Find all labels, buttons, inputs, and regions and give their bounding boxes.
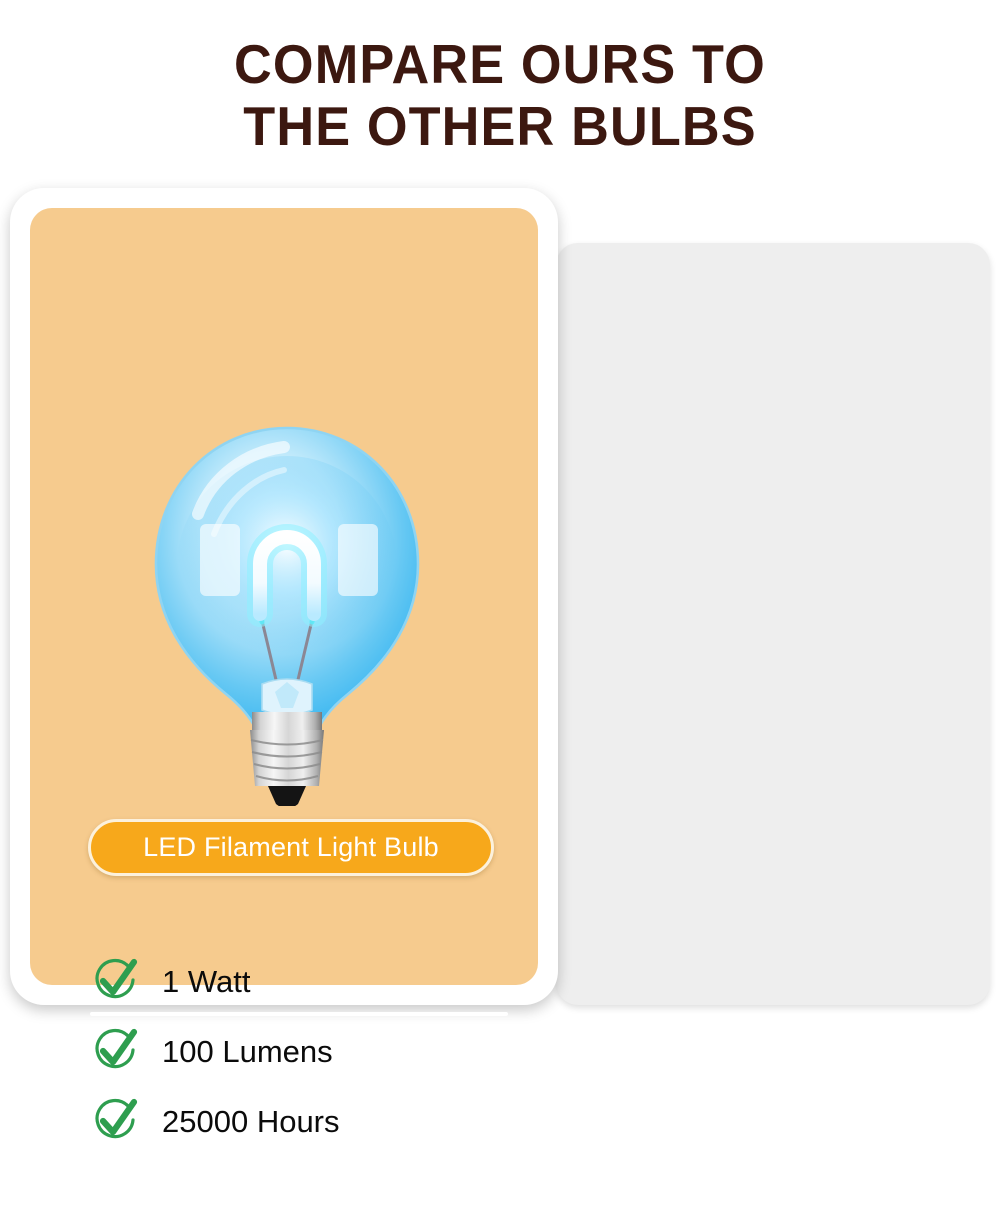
comparison-card-incandescent: Trandition incandescent bulb 10 Watts 20… [556, 243, 990, 1005]
page-title-line-1: COMPARE OURS TO [25, 34, 975, 96]
feature-text: 25000 Hours [162, 1106, 340, 1137]
page-title: COMPARE OURS TO THE OTHER BULBS [25, 34, 975, 157]
check-circle-icon [90, 1026, 140, 1076]
product-label-led: LED Filament Light Bulb [88, 819, 494, 876]
feature-row: 1 Watt [90, 946, 508, 1016]
feature-text: 1 Watt [162, 966, 250, 997]
feature-text: 100 Lumens [162, 1036, 333, 1067]
row-divider [90, 1152, 508, 1156]
feature-row: 100 Lumens [90, 1016, 508, 1086]
check-circle-icon [90, 1096, 140, 1146]
led-filament-bulb-icon [142, 416, 432, 806]
page-title-line-2: THE OTHER BULBS [25, 96, 975, 158]
feature-list-led: 1 Watt 100 Lumens 25000 Hours [90, 946, 508, 1156]
feature-row: 25000 Hours [90, 1086, 508, 1156]
check-circle-icon [90, 956, 140, 1006]
comparison-card-led: LED Filament Light Bulb 1 Watt 100 Lumen… [10, 188, 558, 1005]
